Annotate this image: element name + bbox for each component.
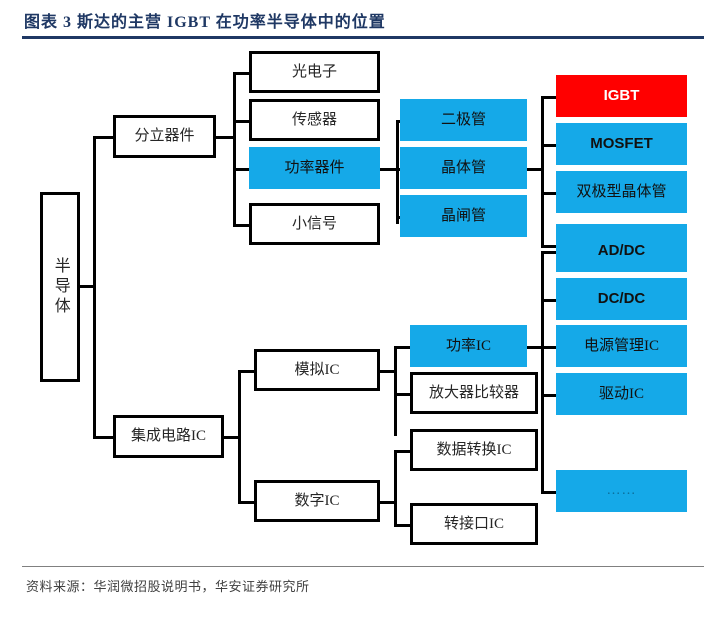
node-digital-ic[interactable]: 数字IC xyxy=(254,480,380,522)
connector-transistor-b4 xyxy=(541,245,557,248)
figure-container: 图表 3 斯达的主营 IGBT 在功率半导体中的位置 xyxy=(0,0,726,619)
node-interface-ic[interactable]: 转接口IC xyxy=(410,503,538,545)
connector-powerіc-b2 xyxy=(541,299,557,302)
connector-root-trunk xyxy=(93,136,96,439)
node-discrete-devices[interactable]: 分立器件 xyxy=(113,115,216,158)
connector-transistor-b1 xyxy=(541,96,557,99)
source-divider xyxy=(22,566,704,567)
tree-diagram: 半导体 分立器件 集成电路IC 光电子 传感器 功率器件 小信号 二极管 晶体管… xyxy=(0,40,726,565)
node-thyristor[interactable]: 晶闸管 xyxy=(400,195,527,237)
connector-analog-b1 xyxy=(394,346,410,349)
connector-powerіc-b5 xyxy=(541,491,557,494)
node-amplifier-comparator[interactable]: 放大器比较器 xyxy=(410,372,538,414)
connector-powerіc-trunk xyxy=(541,251,544,494)
connector-digital-trunk xyxy=(394,450,397,527)
source-note: 资料来源：华润微招股说明书，华安证券研究所 xyxy=(26,576,310,595)
connector-transistor-trunk xyxy=(541,96,544,248)
connector-transistor-b2 xyxy=(541,144,557,147)
node-power-management-ic[interactable]: 电源管理IC xyxy=(556,325,687,367)
node-semiconductor[interactable]: 半导体 xyxy=(40,192,80,382)
connector-analog-trunk xyxy=(394,346,397,436)
connector-root-to-ic xyxy=(93,436,113,439)
node-driver-ic[interactable]: 驱动IC xyxy=(556,373,687,415)
node-igbt[interactable]: IGBT xyxy=(556,75,687,117)
node-bipolar-transistor[interactable]: 双极型晶体管 xyxy=(556,171,687,213)
connector-discrete-trunk xyxy=(233,72,236,227)
connector-root-to-discrete xyxy=(93,136,113,139)
connector-digital-b2 xyxy=(394,524,410,527)
connector-analog-b2 xyxy=(394,393,410,396)
node-mosfet[interactable]: MOSFET xyxy=(556,123,687,165)
node-power-device[interactable]: 功率器件 xyxy=(249,147,380,189)
node-analog-ic[interactable]: 模拟IC xyxy=(254,349,380,391)
node-power-ic[interactable]: 功率IC xyxy=(410,325,527,367)
connector-ic-trunk xyxy=(238,370,241,503)
connector-ic-b1 xyxy=(238,370,254,373)
node-power-ic-more[interactable]: …… xyxy=(556,470,687,512)
node-ad-dc[interactable]: AD/DC xyxy=(556,230,687,272)
connector-powerіc-b4 xyxy=(541,394,557,397)
node-optoelectronics[interactable]: 光电子 xyxy=(249,51,380,93)
connector-powerіc-b3 xyxy=(541,346,557,349)
node-dc-dc[interactable]: DC/DC xyxy=(556,278,687,320)
node-sensor[interactable]: 传感器 xyxy=(249,99,380,141)
title-divider xyxy=(22,36,704,39)
node-integrated-circuit[interactable]: 集成电路IC xyxy=(113,415,224,458)
node-data-conversion-ic[interactable]: 数据转换IC xyxy=(410,429,538,471)
connector-transistor-b3 xyxy=(541,192,557,195)
connector-powerіc-b1 xyxy=(541,251,557,254)
node-diode[interactable]: 二极管 xyxy=(400,99,527,141)
connector-power-trunk xyxy=(396,120,399,224)
connector-digital-b1 xyxy=(394,450,410,453)
node-small-signal[interactable]: 小信号 xyxy=(249,203,380,245)
connector-ic-b2 xyxy=(238,501,254,504)
figure-title: 图表 3 斯达的主营 IGBT 在功率半导体中的位置 xyxy=(24,8,386,32)
node-transistor[interactable]: 晶体管 xyxy=(400,147,527,189)
